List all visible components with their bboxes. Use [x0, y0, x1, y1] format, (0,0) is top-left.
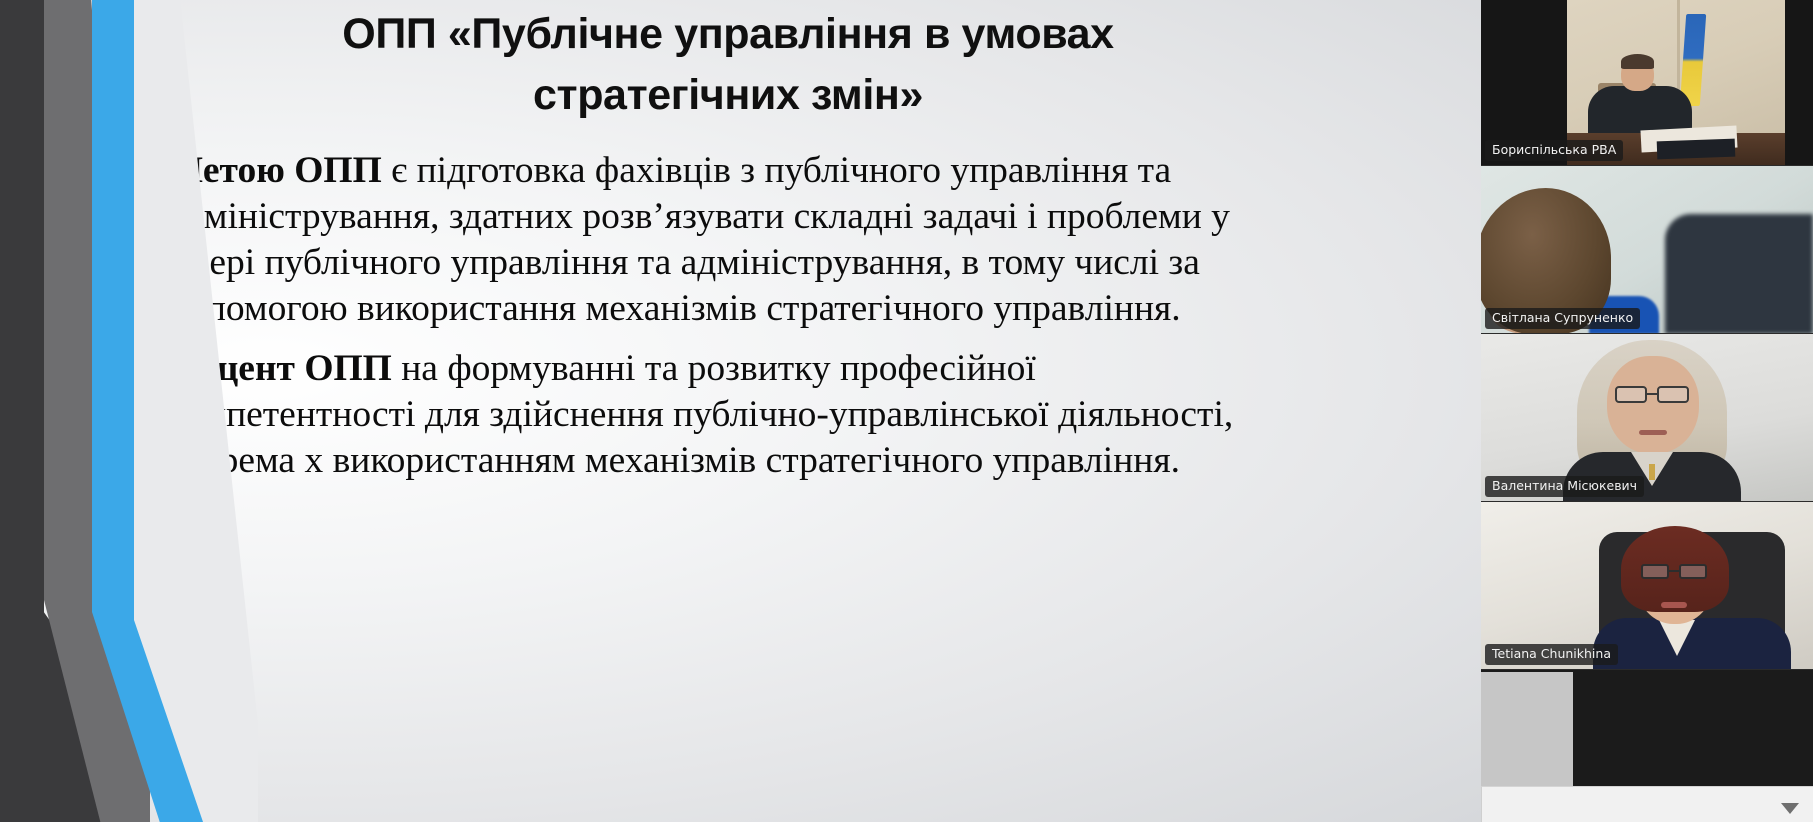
chevron-down-icon[interactable] [1781, 803, 1799, 814]
eyeglasses-icon [1641, 564, 1669, 579]
filmstrip-scroll-bar[interactable] [1481, 786, 1813, 822]
screen-root: ОПП «Публічне управління в умовах страте… [0, 0, 1813, 822]
participant-name-label: Валентина Місюкевич [1485, 476, 1644, 497]
slide-title: ОПП «Публічне управління в умовах страте… [208, 4, 1248, 126]
participant-tile-tetiana-chunikhina[interactable]: Tetiana Chunikhina [1481, 502, 1813, 670]
participant-name-label: Tetiana Chunikhina [1485, 644, 1618, 665]
participant-tile-valentyna-misiukevych[interactable]: Валентина Місюкевич [1481, 334, 1813, 502]
participant-tile-boryspilska-rva[interactable]: Бориспільська РВА [1481, 0, 1813, 166]
slide-body: Метою ОПП є підготовка фахівців з публіч… [168, 148, 1278, 498]
participant-name-label: Світлана Супруненко [1485, 308, 1640, 329]
participant-name-label: Бориспільська РВА [1485, 140, 1623, 161]
presentation-slide: ОПП «Публічне управління в умовах страте… [0, 0, 1481, 822]
slide-paragraph-2: Акцент ОПП на формуванні та розвитку про… [168, 346, 1278, 484]
paragraph-1-lead: Метою ОПП [168, 150, 382, 191]
participant-tile-svitlana-suprunenko[interactable]: Світлана Супруненко [1481, 166, 1813, 334]
eyeglasses-icon [1615, 386, 1647, 403]
slide-paragraph-1: Метою ОПП є підготовка фахівців з публіч… [168, 148, 1278, 332]
paragraph-2-lead: Акцент ОПП [168, 348, 392, 389]
